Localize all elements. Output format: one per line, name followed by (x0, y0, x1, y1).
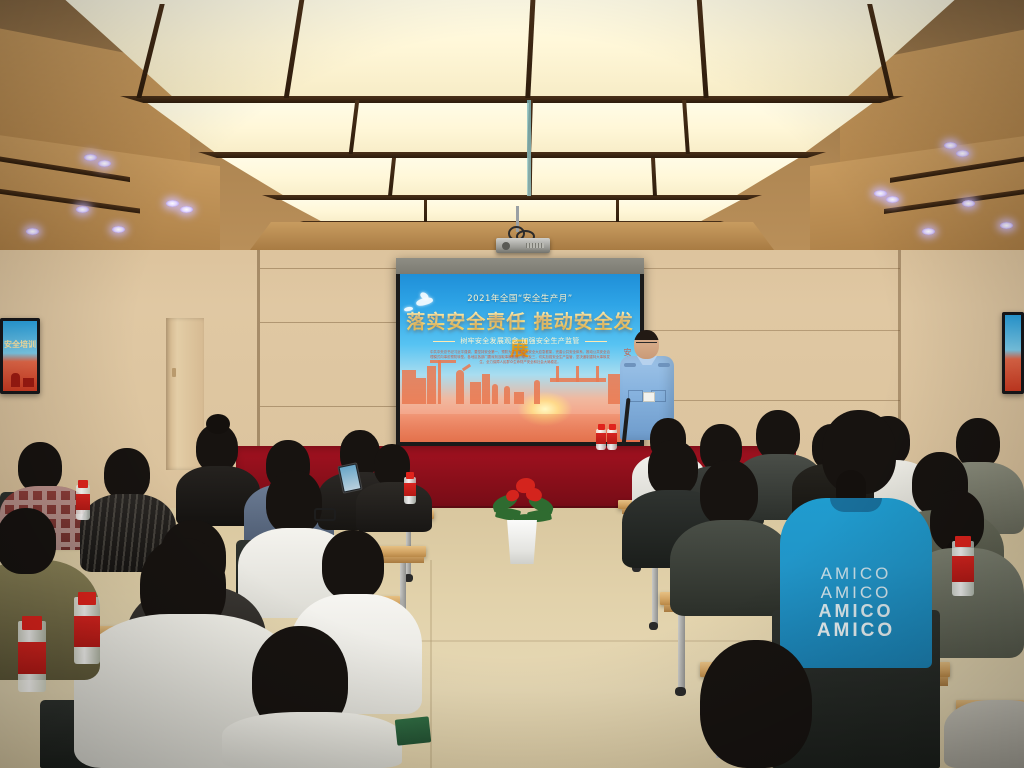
person-head (700, 640, 812, 768)
ceiling-rib (262, 195, 762, 200)
water-bottle[interactable] (607, 424, 617, 450)
hair-bun (206, 414, 230, 434)
wall-tv-left-caption: 安全培训 (3, 339, 37, 350)
phone-screen (340, 465, 361, 492)
water-bottle[interactable] (76, 480, 90, 520)
silhouette-building (402, 370, 416, 404)
projector-vent (526, 243, 544, 248)
amico-line: AMICO (780, 583, 932, 602)
presenter-epaulette (658, 363, 670, 367)
bottle-cap (406, 472, 414, 479)
person-head (648, 440, 698, 496)
person-head (756, 410, 800, 460)
luminous-ceiling (0, 0, 1024, 250)
silhouette-crane (438, 360, 441, 404)
bottle-label (596, 433, 606, 444)
person-head (104, 448, 150, 500)
downlight-icon (166, 200, 179, 207)
projector-lens-icon (502, 242, 510, 250)
ceiling-rib (424, 200, 427, 222)
wall-seam (640, 330, 900, 331)
person-head (956, 418, 1000, 468)
water-bottle[interactable] (18, 616, 46, 692)
downlight-icon (76, 206, 89, 213)
amico-text-block: AMICO AMICO AMICO AMICO (780, 564, 932, 640)
silhouette-worker (456, 370, 464, 404)
bottle-label (404, 483, 416, 496)
screen-housing (396, 258, 644, 274)
bottle-label (607, 433, 617, 444)
slide-subtitle-row: 树牢安全发展观念 加强安全生产监管 (400, 336, 640, 346)
water-bottle[interactable] (952, 536, 974, 596)
subtitle-rule-left (433, 341, 455, 342)
silhouette-crane-arm (430, 360, 456, 363)
glasses-icon (314, 508, 336, 521)
ceiling-light-panel (128, 100, 892, 156)
ceiling-light-panel (30, 0, 990, 98)
presenter-epaulette (624, 363, 636, 367)
slide-kicker: 2021年全国“安全生产月” (400, 292, 640, 304)
silhouette-building (608, 374, 620, 404)
wall-corner (898, 250, 901, 440)
person-head (0, 508, 56, 574)
amico-line: AMICO (780, 602, 932, 621)
silhouette-building (470, 382, 481, 404)
conference-room-photo: 2021年全国“安全生产月” 落实安全责任 推动安全发展 树牢安全发展观念 加强… (0, 0, 1024, 768)
ceiling-rib (120, 96, 904, 103)
downlight-icon (112, 226, 125, 233)
notebook[interactable] (395, 716, 432, 745)
downlight-icon (944, 142, 957, 149)
slide-subtitle: 树牢安全发展观念 加强安全生产监管 (460, 337, 579, 345)
bottle-cap (78, 480, 88, 488)
person-torso (670, 520, 792, 616)
silhouette-building (482, 374, 490, 404)
downlight-icon (98, 160, 111, 167)
silhouette-worker (504, 386, 510, 404)
ceiling-rib (198, 152, 826, 158)
slide-body-text: 中共中央总书记习近平强调，要坚持安全第一、预防为主，建立大安全大应急框架，完善公… (430, 350, 610, 365)
bottle-label (18, 642, 46, 674)
wall-tv-left: 安全培训 (0, 318, 40, 394)
bottle-cap (22, 616, 42, 630)
tshirt-collar (830, 498, 882, 512)
water-bottle[interactable] (404, 472, 416, 504)
bottle-cap (609, 424, 616, 430)
plant-pot (505, 520, 539, 564)
water-bottle[interactable] (596, 424, 606, 450)
ceiling-accent-slot (527, 100, 531, 196)
silhouette-worker (492, 384, 498, 404)
person-head (266, 470, 322, 534)
glasses-icon (636, 342, 657, 347)
person-torso (356, 482, 432, 532)
downlight-icon (922, 228, 935, 235)
person-head (700, 460, 758, 526)
bottle-label (76, 494, 90, 511)
tv-silhouette (23, 378, 34, 387)
ceiling-rib (616, 200, 619, 222)
silhouette-bridge-pylon (556, 366, 559, 382)
desk-leg (678, 612, 685, 690)
downlight-icon (84, 154, 97, 161)
amico-line: AMICO (780, 621, 932, 640)
silhouette-bridge-pylon (596, 366, 599, 382)
bottle-label (74, 616, 100, 646)
desk-caster (649, 622, 658, 630)
silhouette-building (514, 392, 524, 404)
subtitle-rule-right (585, 341, 607, 342)
projection-screen: 2021年全国“安全生产月” 落实安全责任 推动安全发展 树牢安全发展观念 加强… (396, 258, 644, 448)
downlight-icon (180, 206, 193, 213)
downlight-icon (874, 190, 887, 197)
wall-tv-left-screen: 安全培训 (3, 321, 37, 391)
door-handle-icon[interactable] (172, 368, 176, 377)
silhouette-bridge-pylon (576, 366, 579, 382)
person-torso (222, 712, 402, 768)
presenter-id-badge (643, 392, 655, 402)
silhouette-building (416, 378, 426, 404)
slide-content: 2021年全国“安全生产月” 落实安全责任 推动安全发展 树牢安全发展观念 加强… (400, 274, 640, 442)
bottle-cap (598, 424, 605, 430)
ceiling-light-panel (206, 156, 814, 200)
water-bottle[interactable] (74, 592, 100, 664)
wall-tv-right-screen (1005, 315, 1021, 391)
downlight-icon (1000, 222, 1013, 229)
ceiling-light-panel (268, 198, 754, 224)
desk-caster (675, 687, 686, 696)
wall-tv-right (1002, 312, 1024, 394)
wall-seam (640, 400, 900, 401)
bottle-label (952, 556, 974, 581)
tv-silhouette (11, 373, 20, 387)
person-head (18, 442, 62, 492)
wall-seam (640, 268, 900, 269)
wall-corner (257, 250, 260, 475)
person-torso (944, 700, 1024, 768)
silhouette-building (427, 366, 436, 404)
bottle-cap (955, 536, 970, 547)
downlight-icon (886, 196, 899, 203)
downlight-icon (26, 228, 39, 235)
downlight-icon (956, 150, 969, 157)
amico-tshirt: AMICO AMICO AMICO AMICO (780, 498, 932, 668)
person-head (322, 530, 384, 600)
downlight-icon (962, 200, 975, 207)
projector (496, 238, 550, 253)
amico-line: AMICO (780, 564, 932, 583)
desk-leg (652, 559, 658, 625)
silhouette-worker (534, 380, 540, 404)
bottle-cap (78, 592, 96, 605)
